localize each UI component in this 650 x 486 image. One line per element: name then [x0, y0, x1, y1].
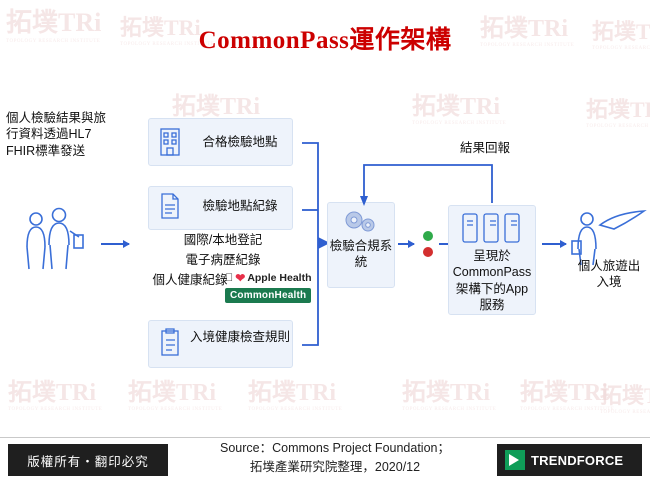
common-health-label: CommonHealth: [225, 288, 311, 303]
travelers-icon: [14, 205, 94, 275]
record-item-1: 電子病歷紀錄: [148, 252, 298, 268]
checklist-icon: [158, 328, 182, 358]
arrow-engine-to-status: [398, 243, 414, 245]
airplane-traveler-icon: [570, 205, 648, 265]
watermark: 拓墣TRiTOPOLOGY RESEARCH INSTITUTE: [586, 92, 650, 129]
source-note: Source：Commons Project Foundation； 拓墣產業研…: [190, 439, 480, 478]
apple-logo-icon: : [225, 272, 233, 284]
record-item-0: 國際/本地登記: [148, 232, 298, 248]
slide-canvas: 拓墣TRiTOPOLOGY RESEARCH INSTITUTE 拓墣TRiTO…: [0, 0, 650, 485]
box-entry-health-rules-label: 入境健康檢查規則: [190, 329, 290, 345]
watermark: 拓墣TRiTOPOLOGY RESEARCH INSTITUTE: [520, 372, 614, 412]
arrow-app-to-traveler: [542, 243, 566, 245]
apple-health-badge:  ❤ Apple Health: [225, 271, 312, 285]
brand-logo: TRENDFORCE: [497, 444, 642, 476]
trendforce-mark-icon: [505, 450, 525, 470]
hospital-icon: [158, 126, 184, 156]
box-qualified-test-site-label: 合格檢驗地點: [190, 134, 290, 150]
heart-icon: ❤: [235, 271, 245, 285]
watermark: 拓墣TRiTOPOLOGY RESEARCH INSTITUTE: [600, 378, 650, 415]
input-description: 個人檢驗結果與旅行資料透過HL7 FHIR標準發送: [6, 110, 110, 159]
record-item-2: 個人健康紀錄: [152, 272, 228, 288]
copyright-badge: 版權所有‧翻印必究: [8, 444, 168, 476]
arrow-input-to-boxes: [101, 243, 129, 245]
watermark: 拓墣TRiTOPOLOGY RESEARCH INSTITUTE: [402, 372, 496, 412]
common-health-badge: CommonHealth: [225, 288, 311, 303]
result-feedback-connector: [358, 148, 498, 243]
document-icon: [158, 192, 182, 220]
result-feedback-label: 結果回報: [440, 140, 530, 156]
source-line-1: Source：Commons Project Foundation；: [190, 439, 480, 458]
watermark: 拓墣TRiTOPOLOGY RESEARCH INSTITUTE: [8, 372, 102, 412]
status-dot-red: [423, 247, 433, 257]
app-service-label: 呈現於CommonPass架構下的App服務: [450, 248, 534, 313]
brand-name: TRENDFORCE: [531, 453, 623, 468]
watermark: 拓墣TRiTOPOLOGY RESEARCH INSTITUTE: [128, 372, 222, 412]
watermark: 拓墣TRiTOPOLOGY RESEARCH INSTITUTE: [248, 372, 342, 412]
traveler-label: 個人旅遊出入境: [572, 258, 646, 291]
source-line-2: 拓墣產業研究院整理，2020/12: [190, 458, 480, 477]
box-test-site-records-label: 檢驗地點紀錄: [190, 198, 290, 214]
watermark: 拓墣TRiTOPOLOGY RESEARCH INSTITUTE: [412, 86, 506, 126]
page-title: CommonPass運作架構: [0, 20, 650, 56]
